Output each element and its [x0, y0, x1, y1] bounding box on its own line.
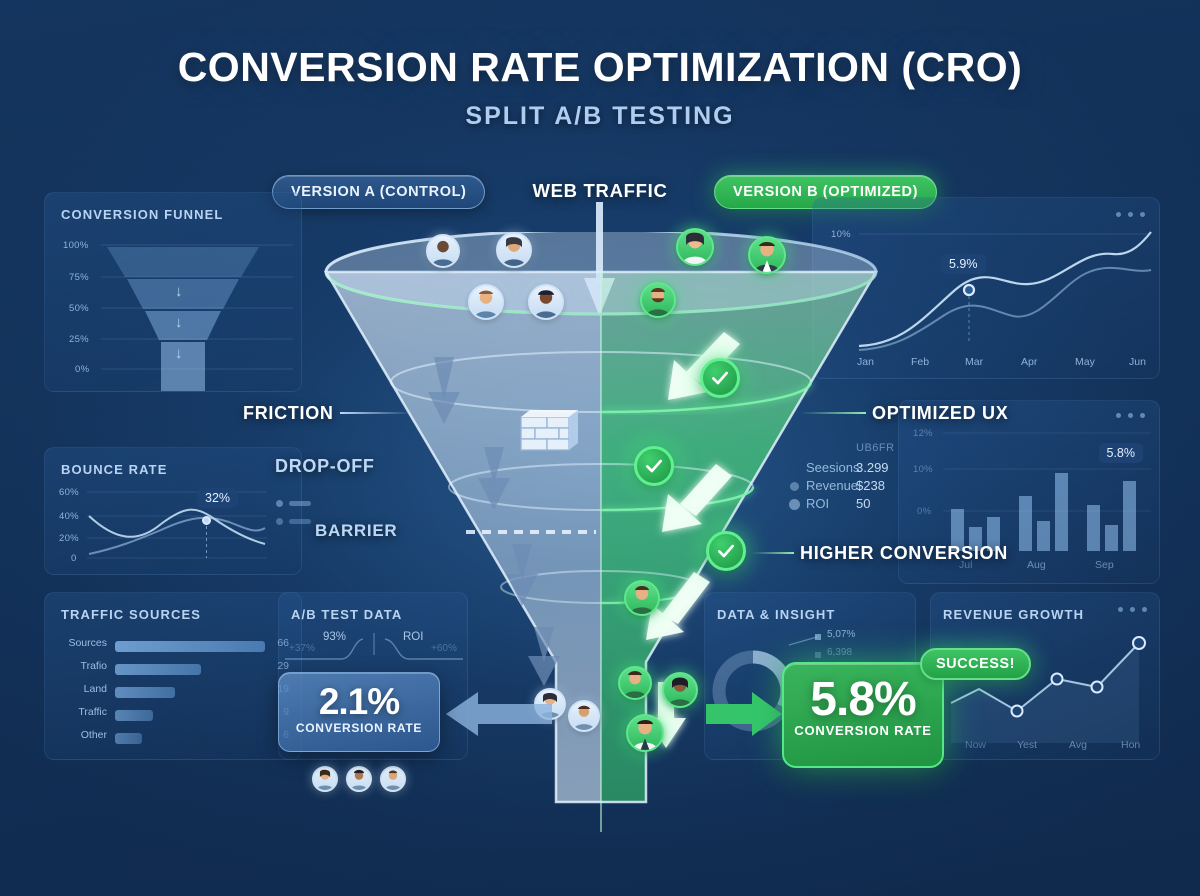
line-chart-xtick-feb: Feb — [911, 356, 929, 368]
bounce-rate-datapoint — [202, 516, 211, 525]
overlay-stat-label-revenue: Revenue — [806, 478, 858, 493]
avatar-dropped-2 — [568, 700, 600, 732]
ab-delta-left: +37% — [289, 643, 315, 654]
funnel-ytick-2: 50% — [69, 303, 89, 314]
funnel-down-arrow-icon-2: ↓ — [175, 314, 183, 331]
avatar-footer-3 — [380, 766, 406, 792]
bar-chart-ytick-1: 10% — [913, 464, 933, 475]
revenue-xtick-yest: Yest — [1017, 739, 1037, 751]
callout-higher-conversion: HIGHER CONVERSION — [800, 543, 1008, 564]
revenue-xtick-now: Now — [965, 739, 986, 751]
overlay-stat-value-sessions: 3.299 — [856, 460, 889, 475]
traffic-source-row: Traffic9 — [59, 706, 289, 724]
traffic-source-name: Traffic — [78, 706, 107, 718]
control-conversion-value: 2.1% — [279, 681, 439, 723]
panel-title-traffic-sources: TRAFFIC SOURCES — [61, 607, 201, 622]
bar-chart-xtick-sep: Sep — [1095, 559, 1114, 571]
overlay-stats-header: UB6FR — [856, 442, 895, 454]
traffic-source-bar — [115, 733, 142, 744]
callout-higher-conversion-leader — [752, 552, 794, 554]
traffic-source-row: Sources66 — [59, 637, 289, 655]
line-chart-callout: 5.9% — [941, 254, 986, 274]
optimized-result-arrow-icon — [706, 690, 784, 740]
overlay-stat-value-revenue: $238 — [856, 478, 885, 493]
barrier-wall-icon — [521, 410, 578, 450]
bounce-ytick-2: 20% — [59, 533, 79, 544]
bounce-rate-callout: 32% — [197, 488, 238, 508]
panel-traffic-sources[interactable]: TRAFFIC SOURCES Sources66Trafio29Land19T… — [44, 592, 302, 760]
traffic-source-row: Other6 — [59, 729, 289, 747]
callout-optimized-ux: OPTIMIZED UX — [872, 403, 1008, 424]
funnel-ytick-3: 25% — [69, 334, 89, 345]
bar-chart-ytick-2: 0% — [917, 506, 931, 517]
line-chart-xtick-apr: Apr — [1021, 356, 1037, 368]
bar-chart-xtick-aug: Aug — [1027, 559, 1046, 571]
optimized-conversion-label: CONVERSION RATE — [784, 723, 942, 738]
avatar-optimized-2 — [748, 236, 786, 274]
overlay-stat-value-roi: 50 — [856, 496, 870, 511]
traffic-source-name: Other — [81, 729, 107, 741]
panel-title-conversion-funnel: CONVERSION FUNNEL — [61, 207, 223, 222]
avatar-control-2 — [496, 232, 532, 268]
funnel-ytick-4: 0% — [75, 364, 89, 375]
avatar-converted-2 — [618, 666, 652, 700]
line-chart-xtick-may: May — [1075, 356, 1095, 368]
check-badge-1 — [700, 358, 740, 398]
legend-row-2 — [276, 518, 311, 525]
bar-chart-callout: 5.8% — [1099, 443, 1144, 463]
bounce-ytick-1: 40% — [59, 511, 79, 522]
avatar-optimized-3 — [640, 282, 676, 318]
callout-drop-off: DROP-OFF — [275, 456, 375, 477]
line-chart-xtick-mar: Mar — [965, 356, 983, 368]
callout-barrier: BARRIER — [315, 521, 397, 541]
funnel-ytick-1: 75% — [69, 272, 89, 283]
avatar-converted-3 — [662, 672, 698, 708]
bounce-ytick-3: 0 — [71, 553, 77, 564]
line-chart-xtick-jun: Jun — [1129, 356, 1146, 368]
traffic-source-name: Sources — [68, 637, 107, 649]
avatar-footer-2 — [346, 766, 372, 792]
revenue-xtick-avg: Avg — [1069, 739, 1087, 751]
bar-chart-ytick-0: 12% — [913, 428, 933, 439]
bar-chart-menu-dots[interactable] — [1116, 413, 1145, 418]
avatar-control-4 — [528, 284, 564, 320]
callout-friction-leader — [340, 412, 412, 414]
infographic-canvas: CONVERSION RATE OPTIMIZATION (CRO) SPLIT… — [0, 0, 1200, 896]
overlay-stat-bullet-roi — [789, 499, 800, 510]
avatar-control-1 — [426, 234, 460, 268]
line-chart-menu-dots[interactable] — [1116, 212, 1145, 217]
traffic-source-bar — [115, 710, 153, 721]
metric-card-control[interactable]: 2.1% CONVERSION RATE — [278, 672, 440, 752]
revenue-xtick-hon: Hon — [1121, 739, 1140, 751]
check-badge-2 — [634, 446, 674, 486]
check-badge-3 — [706, 531, 746, 571]
callout-optimized-ux-leader — [800, 412, 866, 414]
traffic-source-name: Land — [84, 683, 107, 695]
traffic-source-row: Land19 — [59, 683, 289, 701]
avatar-control-3 — [468, 284, 504, 320]
traffic-source-bar — [115, 641, 265, 652]
funnel-ytick-0: 100% — [63, 240, 89, 251]
panel-title-bounce-rate: BOUNCE RATE — [61, 462, 167, 477]
page-title: CONVERSION RATE OPTIMIZATION (CRO) — [0, 44, 1200, 91]
avatar-footer-1 — [312, 766, 338, 792]
traffic-source-bar — [115, 687, 175, 698]
control-result-arrow-icon — [444, 690, 556, 740]
metric-card-optimized[interactable]: 5.8% CONVERSION RATE — [782, 662, 944, 768]
bounce-ytick-0: 60% — [59, 487, 79, 498]
legend-row-1 — [276, 500, 311, 507]
panel-conversion-funnel[interactable]: CONVERSION FUNNEL 100% 75% 50% 25% 0% ↓ … — [44, 192, 302, 392]
overlay-stat-label-roi: ROI — [806, 496, 829, 511]
panel-bounce-rate[interactable]: BOUNCE RATE 60% 40% 20% 0 32% — [44, 447, 302, 575]
avatar-converted-1 — [624, 580, 660, 616]
avatar-converted-4 — [626, 714, 664, 752]
overlay-stat-bullet-revenue — [790, 482, 799, 491]
optimized-conversion-value: 5.8% — [784, 672, 942, 727]
traffic-source-name: Trafio — [81, 660, 107, 672]
avatar-optimized-1 — [676, 228, 714, 266]
overlay-stat-label-sessions: Seesions — [806, 460, 859, 475]
funnel-down-arrow-icon-1: ↓ — [175, 283, 183, 300]
panel-title-revenue-growth: REVENUE GROWTH — [943, 607, 1084, 622]
success-badge: SUCCESS! — [920, 648, 1031, 680]
callout-friction: FRICTION — [243, 403, 334, 424]
page-subtitle: SPLIT A/B TESTING — [0, 102, 1200, 131]
revenue-growth-menu-dots[interactable] — [1118, 607, 1147, 612]
control-conversion-label: CONVERSION RATE — [279, 721, 439, 735]
traffic-source-bar — [115, 664, 201, 675]
funnel-down-arrow-icon-3: ↓ — [175, 345, 183, 362]
traffic-source-row: Trafio29 — [59, 660, 289, 678]
bounce-rate-guide-line — [206, 526, 207, 558]
